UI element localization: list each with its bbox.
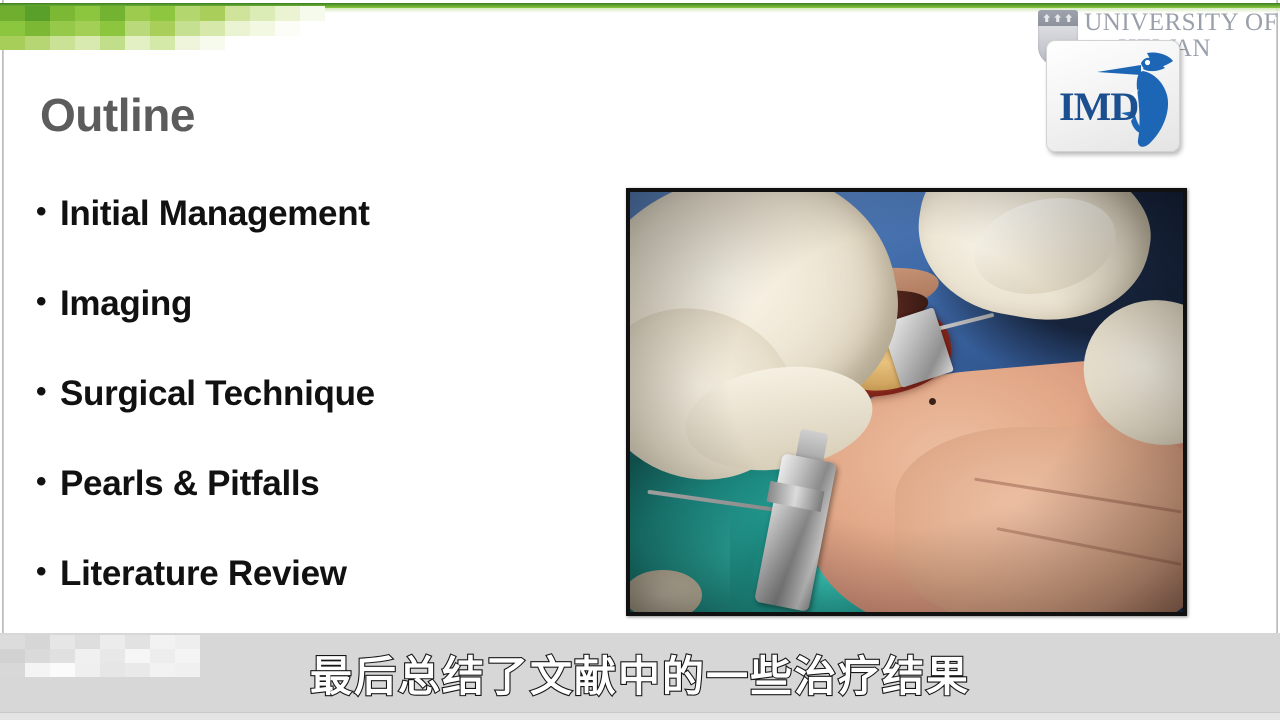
mosaic-tile [25,36,50,50]
mosaic-tile [100,36,125,50]
surgical-photo-content [630,192,1183,612]
mosaic-tile [175,36,200,50]
mosaic-tile [275,6,300,21]
mosaic-tile [200,21,225,36]
list-item: • Pearls & Pitfalls [36,466,596,556]
bullet-label: Initial Management [60,196,370,233]
mosaic-tile [50,21,75,36]
mosaic-tile [75,36,100,50]
list-item: • Surgical Technique [36,376,596,466]
mosaic-tile [225,6,250,21]
imd-logo: IMD [1046,40,1180,152]
mosaic-tile [75,6,100,21]
presentation-screenshot: Outline • Initial Management • Imaging •… [0,0,1280,720]
mosaic-tile [125,6,150,21]
subtitle-bar: 最后总结了文献中的一些治疗结果 [0,633,1280,720]
slide-canvas: Outline • Initial Management • Imaging •… [0,0,1280,633]
list-item: • Initial Management [36,196,596,286]
surgical-photo [626,188,1187,616]
bullet-label: Surgical Technique [60,376,375,413]
page-title: Outline [40,92,195,138]
mosaic-tile [250,6,275,21]
outline-bullet-list: • Initial Management • Imaging • Surgica… [36,196,596,633]
mosaic-tile [50,36,75,50]
mosaic-tile [150,6,175,21]
imd-label: IMD [1059,87,1138,127]
mosaic-tile [150,21,175,36]
bullet-marker-icon: • [36,286,60,318]
mosaic-tile [0,36,25,50]
subtitle-bottom-edge [0,712,1280,720]
bullet-marker-icon: • [36,376,60,408]
mosaic-tile [275,36,300,50]
mosaic-tile [25,6,50,21]
mosaic-tile [275,21,300,36]
mosaic-tile [125,21,150,36]
subtitle-text: 最后总结了文献中的一些治疗结果 [0,643,1280,704]
bullet-label: Pearls & Pitfalls [60,466,319,503]
mosaic-tile [300,21,325,36]
bullet-label: Literature Review [60,556,347,593]
mosaic-tile [200,36,225,50]
mosaic-tile [225,36,250,50]
mosaic-tile [100,21,125,36]
pixelated-green-banner [0,6,325,50]
mosaic-tile [50,6,75,21]
mosaic-tile [75,21,100,36]
mosaic-tile [200,6,225,21]
list-item: • Imaging [36,286,596,376]
bullet-label: Imaging [60,286,192,323]
mosaic-tile [175,21,200,36]
bullet-marker-icon: • [36,466,60,498]
list-item: • Literature Review [36,556,596,633]
bullet-marker-icon: • [36,556,60,588]
mosaic-tile [300,6,325,21]
slide-left-border [2,0,4,633]
mosaic-tile [225,21,250,36]
mosaic-tile [250,21,275,36]
mosaic-tile [300,36,325,50]
mosaic-tile [100,6,125,21]
photo-vignette [630,192,1183,612]
mosaic-tile [125,36,150,50]
university-name-line1: UNIVERSITY OF [1084,9,1278,36]
mosaic-tile [0,21,25,36]
mosaic-tile [0,6,25,21]
mosaic-tile [25,21,50,36]
mosaic-tile [250,36,275,50]
bullet-marker-icon: • [36,196,60,228]
mosaic-tile [150,36,175,50]
slide-right-border [1276,0,1278,633]
mosaic-tile [175,6,200,21]
